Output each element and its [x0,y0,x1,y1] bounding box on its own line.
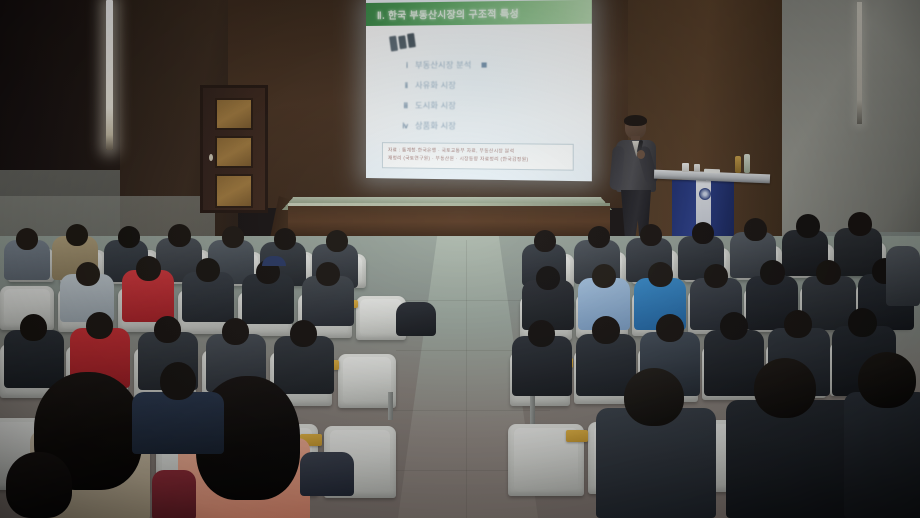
attendee-head [588,226,610,248]
attendee-head [528,320,555,347]
list-item-label: 상품화 시장 [415,120,456,131]
attendee-head [592,316,620,344]
list-item-label: 도시화 시장 [415,100,456,111]
list-item-number: ⅰ [396,61,408,69]
slide-title-banner: Ⅱ. 한국 부동산시장의 구조적 특성 [366,0,592,26]
attendee-body [152,470,196,518]
attendee-head [624,368,684,426]
presenter-hand [637,150,645,159]
paper-cup [682,163,689,172]
attendee-body [132,392,224,454]
paper-cup [694,164,700,172]
attendee-head [86,312,113,339]
attendee-head [196,258,220,282]
door-panel-middle [215,136,253,168]
attendee-head [720,312,748,340]
attendee-head [66,224,88,246]
attendee-body [886,246,920,306]
attendee-head [118,226,140,248]
attendee-blue-cap [262,256,286,266]
attendee-head [274,228,296,250]
attendee-head [20,314,47,341]
institution-seal-icon [699,188,711,200]
attendee-head [858,352,916,408]
attendee-head [848,212,872,236]
backpack [396,302,436,336]
floor-tile-line [466,240,467,518]
attendee-head [848,308,877,337]
slide-corner-graphic-icon [389,33,417,52]
attendee-hair [6,452,72,518]
attendee-head [136,256,161,281]
slide-agenda-list: ⅰ 부동산시장 분석 ⅱ 사유화 시장 ⅲ 도시화 시장 ⅳ 상품화 시장 [396,59,572,142]
attendee-head [796,214,820,238]
attendee-head [640,224,662,246]
lecture-hall-photo: Ⅱ. 한국 부동산시장의 구조적 특성 ⅰ 부동산시장 분석 ⅱ 사유화 시장 … [0,0,920,518]
water-bottle [744,154,750,173]
document-sheet [704,169,720,174]
seat-leg [388,392,393,420]
attendee-head [744,218,767,241]
backpack [300,452,354,496]
beverage-bottle [735,156,741,173]
list-item: ⅱ 사유화 시장 [396,80,572,91]
attendee-head [656,314,684,342]
seat-leg [530,396,535,424]
door-panel-top [215,98,253,130]
list-item: ⅳ 상품화 시장 [396,120,572,132]
attendee-head [16,228,38,250]
slide-title-text: Ⅱ. 한국 부동산시장의 구조적 특성 [377,5,519,21]
attendee-head [290,320,317,347]
attendee-head [168,224,191,247]
door-panel-bottom [215,174,253,208]
list-item: ⅰ 부동산시장 분석 [396,59,572,71]
slide-source-note: 자료 : 통계청·한국은행 · 국토교통부 자료, 부동산시장 분석 재정리 (… [382,142,574,171]
attendee-head [760,260,785,285]
attendee-head [754,358,816,418]
attendee-head [222,226,244,248]
attendee-body [844,392,920,518]
projection-screen: Ⅱ. 한국 부동산시장의 구조적 특성 ⅰ 부동산시장 분석 ⅱ 사유화 시장 … [366,0,592,181]
list-item: ⅲ 도시화 시장 [396,100,572,112]
attendee-head [592,264,616,288]
ceiling-light-strip [106,0,113,150]
list-item-number: ⅳ [396,122,408,130]
attendee-black-puffer [726,400,862,518]
attendee-head [316,262,340,286]
attendee-head [160,362,196,400]
floor-tile-line [388,410,550,411]
list-item-label: 사유화 시장 [415,80,456,91]
attendee-head [704,264,728,288]
attendee-head [648,262,673,287]
attendee-head [536,266,560,290]
side-door[interactable] [200,85,268,213]
attendee-head [76,262,100,286]
attendee-head [784,310,812,338]
attendee-head [222,318,249,345]
slide-body: ⅰ 부동산시장 분석 ⅱ 사유화 시장 ⅲ 도시화 시장 ⅳ 상품화 시장 [366,24,592,182]
attendee-head [692,222,714,244]
list-item-label: 부동산시장 분석 [415,59,471,70]
floor-tile-line [402,300,534,301]
attendee-head [534,230,556,252]
attendee-head [326,230,348,252]
list-item-marker-icon [482,62,487,67]
list-item-number: ⅲ [396,102,408,110]
presenter-hair [624,115,647,126]
attendee-head [816,260,841,285]
list-item-number: ⅱ [396,81,408,89]
seat-tablet-arm[interactable] [566,430,588,442]
attendee-head [154,316,181,343]
wall-light-strip-right [857,2,862,124]
slide-source-note-line: 재정리 (국토연구원) · 부동산원 · 시장동향 자료정리 (한국감정원) [388,154,567,164]
door-knob-icon[interactable] [209,154,213,161]
